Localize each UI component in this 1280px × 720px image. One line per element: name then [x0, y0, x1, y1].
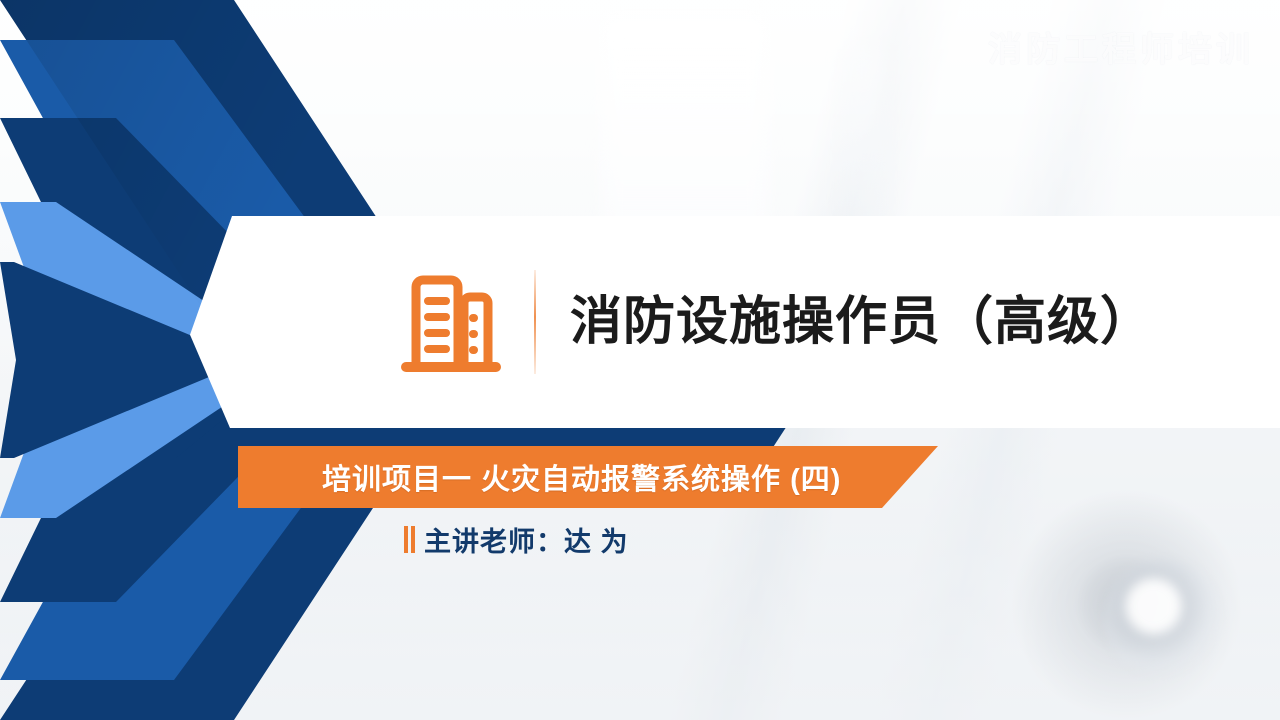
presenter-bar-icon [404, 526, 415, 553]
background-lens-flare [1104, 559, 1222, 677]
presenter-line: 主讲老师：达 为 [404, 520, 629, 559]
title-card-content: 消防设施操作员（高级） [140, 216, 1280, 428]
subtitle-text: 培训项目一 火灾自动报警系统操作 (四) [322, 456, 841, 498]
watermark-text: 消防工程师培训 [988, 22, 1254, 71]
page-title: 消防设施操作员（高级） [570, 296, 1153, 348]
presenter-text: 主讲老师：达 为 [424, 520, 629, 559]
subtitle-banner: 培训项目一 火灾自动报警系统操作 (四) [238, 446, 938, 508]
title-slide: 消防工程师培训 [0, 0, 1280, 720]
title-card: 消防设施操作员（高级） [140, 216, 1280, 428]
title-divider [534, 270, 536, 374]
building-icon [398, 263, 504, 381]
